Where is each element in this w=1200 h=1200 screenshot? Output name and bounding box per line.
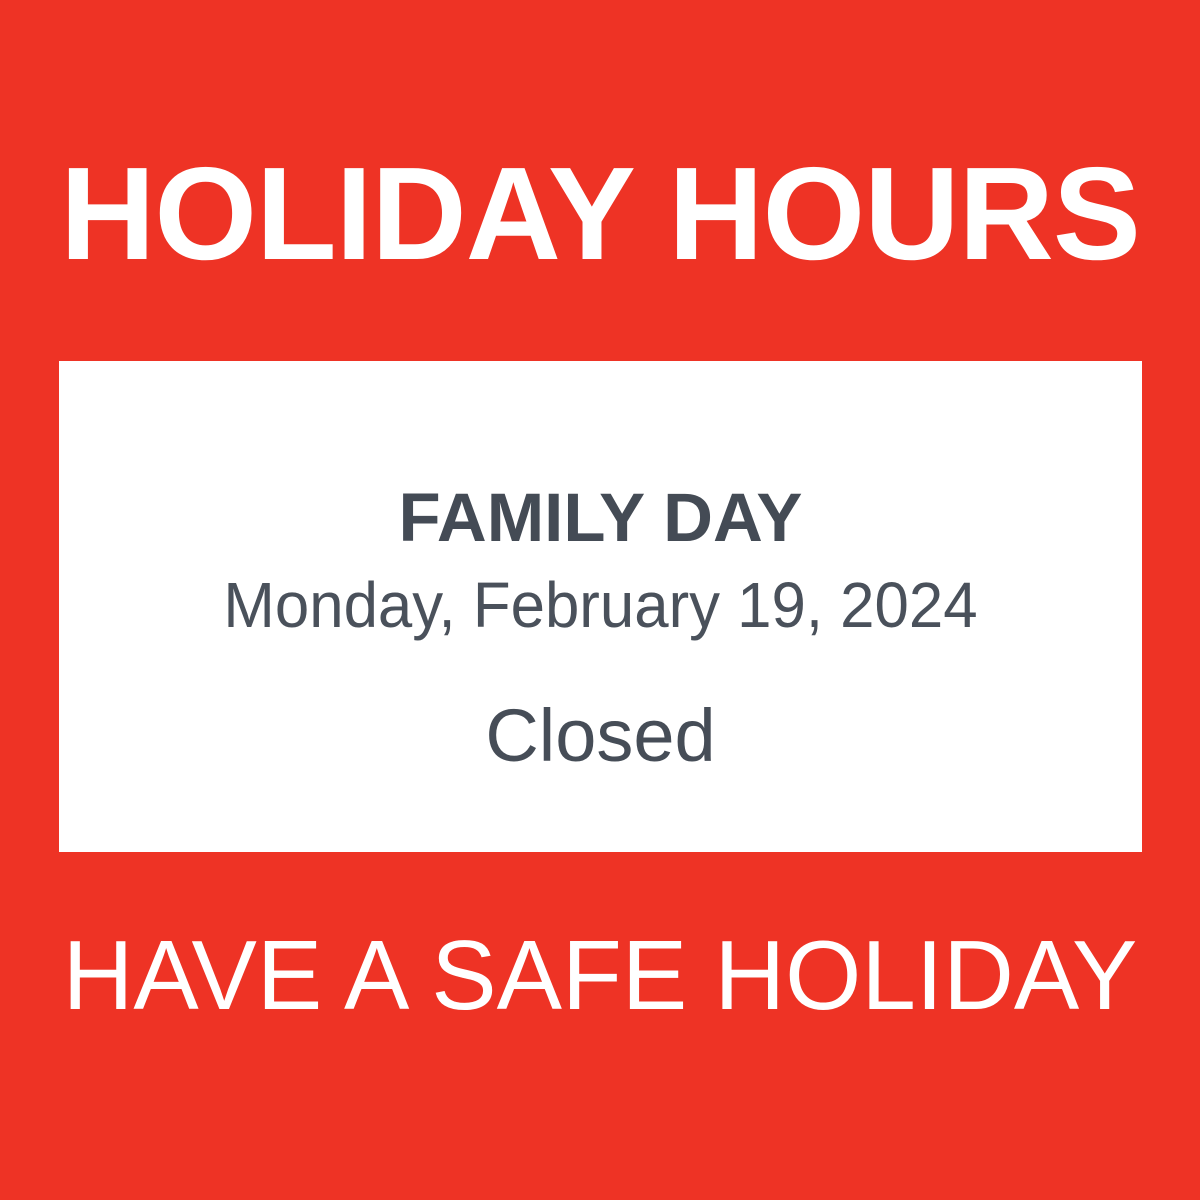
holiday-details-card: FAMILY DAY Monday, February 19, 2024 Clo…	[59, 361, 1142, 852]
holiday-details-card-inner: FAMILY DAY Monday, February 19, 2024 Clo…	[59, 361, 1142, 852]
page-title: HOLIDAY HOURS	[0, 148, 1200, 280]
holiday-name: FAMILY DAY	[59, 483, 1142, 552]
holiday-date: Monday, February 19, 2024	[78, 573, 1123, 637]
status-badge: Closed	[59, 699, 1142, 773]
footer-message: HAVE A SAFE HOLIDAY	[0, 926, 1200, 1024]
holiday-hours-sign: HOLIDAY HOURS FAMILY DAY Monday, Februar…	[0, 0, 1200, 1200]
